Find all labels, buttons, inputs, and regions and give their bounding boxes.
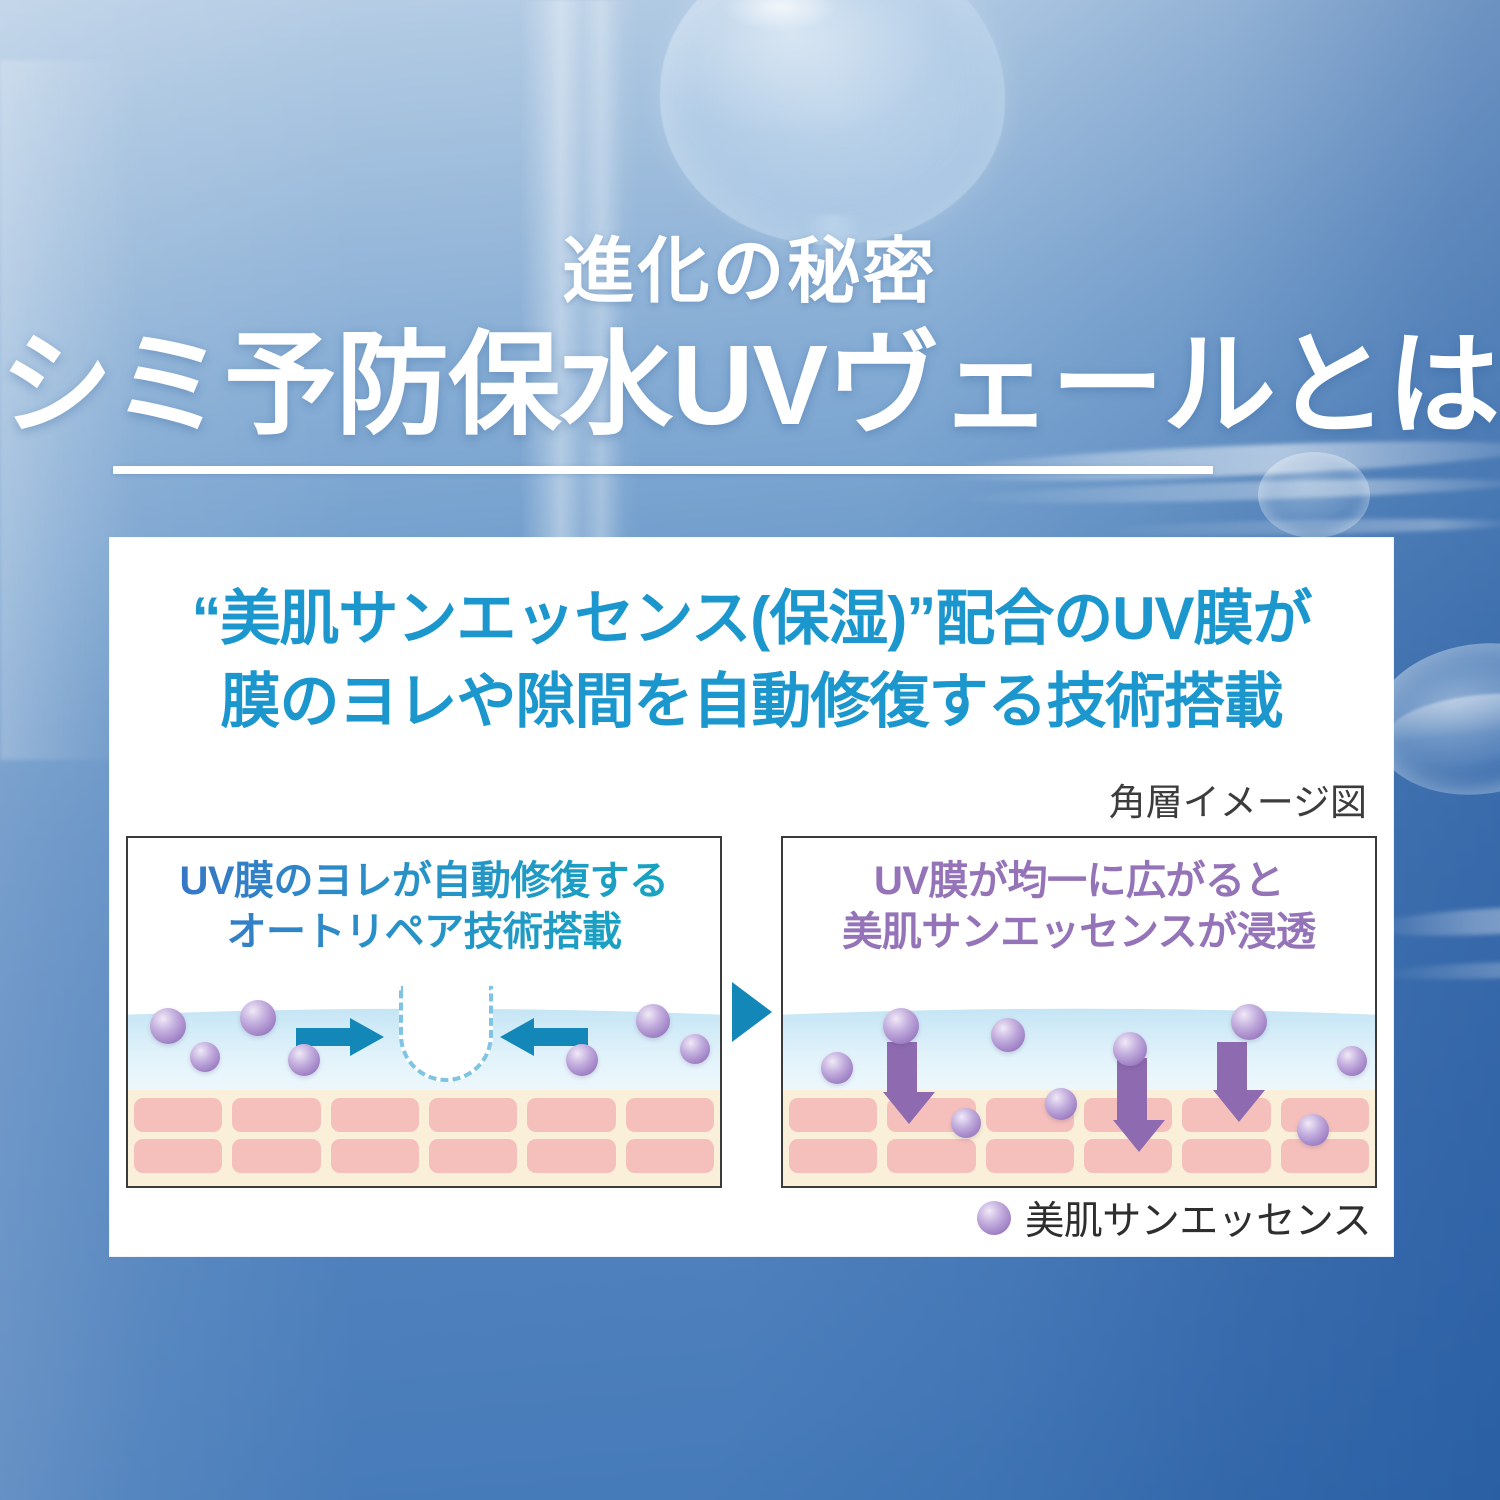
uv-film-layer: [783, 990, 1375, 1094]
flow-arrow-right-icon: [722, 836, 781, 1188]
page-title: シミ予防保水UVヴェールとは？: [0, 324, 1500, 446]
diagram-caption: 角層イメージ図: [1109, 772, 1367, 826]
panel-auto-repair-title-line-2: オートリペア技術搭載: [128, 907, 720, 958]
essence-sphere: [240, 1000, 276, 1036]
skin-cross-section-auto-repair: [128, 990, 720, 1186]
skin-cell-grid: [128, 1090, 720, 1186]
skin-cell: [887, 1139, 975, 1173]
penetration-arrow-down-icon: [1213, 1042, 1251, 1122]
essence-sphere: [1045, 1088, 1077, 1120]
panel-penetration: UV膜が均一に広がると 美肌サンエッセンスが浸透: [781, 836, 1377, 1188]
essence-sphere: [991, 1018, 1025, 1052]
uv-film-gap-dashed-icon: [399, 986, 493, 1082]
card-lead-line-1: “美肌サンエッセンス(保湿)”配合のUV膜が: [110, 578, 1393, 661]
skin-cell: [527, 1098, 615, 1132]
legend-label: 美肌サンエッセンス: [1025, 1190, 1371, 1246]
skin-cell: [527, 1139, 615, 1173]
essence-sphere: [1231, 1004, 1267, 1040]
card-lead-line-2: 膜のヨレや隙間を自動修復する技術搭載: [110, 661, 1393, 744]
legend: 美肌サンエッセンス: [977, 1190, 1371, 1246]
panel-penetration-title-line-2: 美肌サンエッセンスが浸透: [783, 907, 1375, 958]
promo-canvas: 進化の秘密 シミ予防保水UVヴェールとは？ “美肌サンエッセンス(保湿)”配合の…: [0, 0, 1500, 1500]
skin-cell-row: [134, 1139, 714, 1173]
skin-cell-row: [789, 1139, 1369, 1173]
skin-cell: [1182, 1139, 1270, 1173]
penetration-arrow-down-icon: [883, 1042, 921, 1124]
skin-cell: [134, 1098, 222, 1132]
penetration-arrow-down-icon: [1113, 1058, 1151, 1152]
content-card: “美肌サンエッセンス(保湿)”配合のUV膜が 膜のヨレや隙間を自動修復する技術搭…: [110, 538, 1393, 1256]
headline-block: 進化の秘密 シミ予防保水UVヴェールとは？: [0, 236, 1500, 446]
essence-sphere: [680, 1034, 710, 1064]
essence-sphere: [1337, 1046, 1367, 1076]
card-lead-text: “美肌サンエッセンス(保湿)”配合のUV膜が 膜のヨレや隙間を自動修復する技術搭…: [110, 578, 1393, 744]
skin-cell-row: [789, 1098, 1369, 1132]
headline-eyebrow: 進化の秘密: [0, 236, 1500, 308]
skin-cell: [789, 1139, 877, 1173]
panel-auto-repair: UV膜のヨレが自動修復する オートリペア技術搭載: [126, 836, 722, 1188]
essence-sphere: [1297, 1114, 1329, 1146]
essence-sphere: [1113, 1032, 1147, 1066]
skin-cell: [789, 1098, 877, 1132]
essence-sphere: [566, 1044, 598, 1076]
essence-sphere: [636, 1004, 670, 1038]
essence-sphere: [190, 1042, 220, 1072]
panel-auto-repair-title-line-1: UV膜のヨレが自動修復する: [128, 856, 720, 907]
diagram-panels-row: UV膜のヨレが自動修復する オートリペア技術搭載: [126, 836, 1377, 1188]
essence-sphere: [288, 1044, 320, 1076]
skin-cell: [232, 1098, 320, 1132]
skin-cell: [331, 1098, 419, 1132]
skin-cross-section-penetration: [783, 990, 1375, 1186]
skin-cell: [232, 1139, 320, 1173]
skin-cell: [626, 1139, 714, 1173]
skin-cell: [134, 1139, 222, 1173]
essence-sphere: [821, 1052, 853, 1084]
panel-auto-repair-title: UV膜のヨレが自動修復する オートリペア技術搭載: [128, 838, 720, 958]
skin-cell: [986, 1139, 1074, 1173]
essence-sphere: [883, 1008, 919, 1044]
panel-penetration-title: UV膜が均一に広がると 美肌サンエッセンスが浸透: [783, 838, 1375, 958]
skin-cell: [429, 1139, 517, 1173]
essence-sphere: [951, 1108, 981, 1138]
skin-cell-grid: [783, 1090, 1375, 1186]
skin-cell: [429, 1098, 517, 1132]
essence-sphere: [150, 1008, 186, 1044]
headline-underline-divider: [113, 466, 1213, 474]
panel-penetration-title-line-1: UV膜が均一に広がると: [783, 856, 1375, 907]
skin-cell: [331, 1139, 419, 1173]
legend-sphere-icon: [977, 1201, 1011, 1235]
skin-cell: [1281, 1139, 1369, 1173]
skin-cell-row: [134, 1098, 714, 1132]
skin-cell: [626, 1098, 714, 1132]
